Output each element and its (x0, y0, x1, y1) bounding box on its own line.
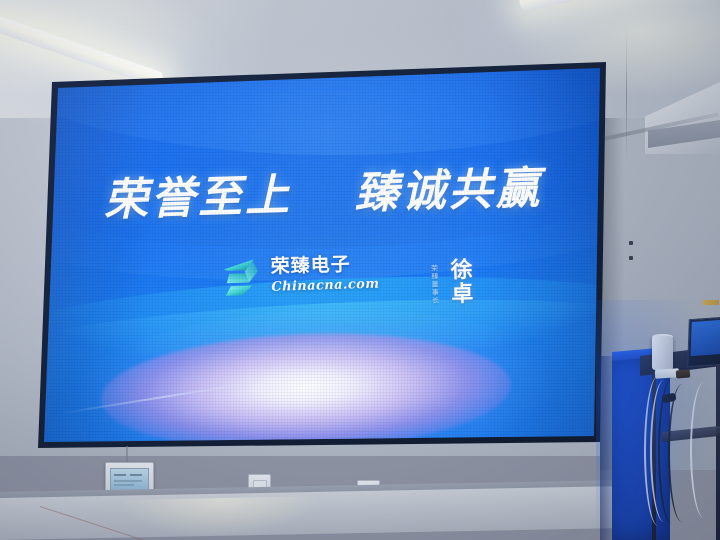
floor-light-reflection (120, 496, 320, 540)
cylindrical-speaker[interactable] (652, 336, 673, 370)
control-laptop[interactable] (687, 317, 720, 368)
power-adapter-plug (676, 370, 691, 379)
led-pixel-grid (38, 62, 608, 450)
screen-panel: 荣誉至上 臻诚共赢 (38, 62, 608, 450)
led-video-wall[interactable]: 荣誉至上 臻诚共赢 (38, 62, 608, 450)
wall-screw-lower (629, 256, 633, 260)
cable-bundle-5 (690, 382, 718, 518)
wall-sticker-label (703, 300, 719, 305)
wall-screw-upper (629, 241, 633, 245)
laptop-screen (691, 320, 720, 356)
room-photo-scene: 荣誉至上 臻诚共赢 (0, 0, 720, 540)
